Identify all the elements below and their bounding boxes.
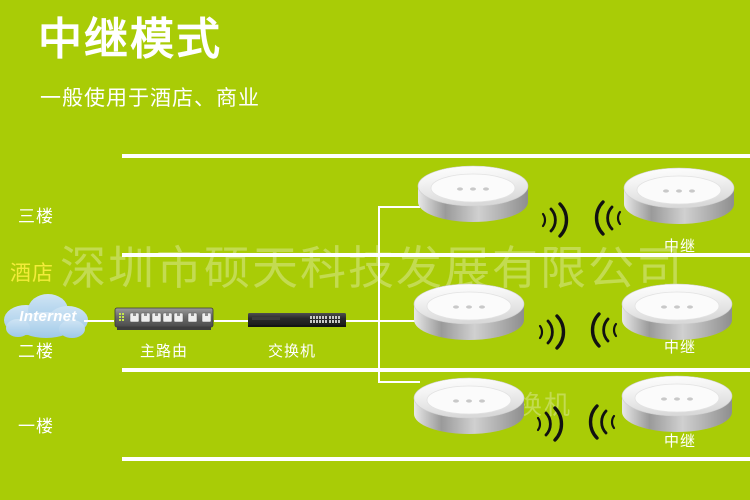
floor-label-first: 一楼 [18, 412, 54, 437]
access-point-relay-first-floor [618, 368, 736, 438]
internet-cloud: Internet [2, 292, 94, 340]
access-point-relay-third-floor [620, 160, 738, 230]
switch-icon [248, 312, 346, 329]
access-point-source-second-floor [410, 276, 528, 346]
floor-line-third [122, 253, 750, 257]
floor-line-first [122, 457, 750, 461]
link-router-switch [214, 320, 250, 322]
relay-label-third-floor: 中继 [664, 235, 696, 256]
access-point-source-first-floor [410, 370, 528, 440]
wifi-signal-icon-third-floor-left [537, 198, 571, 242]
access-point-source-third-floor [414, 158, 532, 228]
internet-label: Internet [2, 292, 94, 340]
page-subtitle: 一般使用于酒店、商业 [40, 82, 260, 112]
floor-label-third: 三楼 [18, 202, 54, 227]
relay-label-first-floor: 中继 [664, 430, 696, 451]
link-internet-router [84, 320, 114, 322]
page-title: 中继模式 [38, 18, 222, 62]
access-point-icon [618, 368, 736, 438]
main-router [114, 306, 214, 332]
network-switch [248, 312, 346, 329]
trunk-line [378, 206, 380, 382]
access-point-icon [620, 160, 738, 230]
floor-label-second: 二楼 [18, 337, 54, 362]
diagram-canvas: 中继模式 一般使用于酒店、商业 深圳市硕天科技发展有限公司 交换机 三楼 酒店 … [0, 0, 750, 500]
router-label: 主路由 [140, 340, 188, 361]
access-point-icon [410, 276, 528, 346]
wifi-signal-icon-second-floor-left [534, 310, 568, 354]
wifi-signal-icon-first-floor-left [532, 402, 566, 446]
company-watermark: 深圳市硕天科技发展有限公司 [60, 232, 684, 298]
access-point-icon [414, 158, 532, 228]
wifi-signal-icon-first-floor-right [586, 400, 620, 444]
router-icon [114, 306, 214, 332]
switch-label: 交换机 [268, 340, 316, 361]
access-point-icon [410, 370, 528, 440]
relay-label-second-floor: 中继 [664, 336, 696, 357]
hotel-label: 酒店 [10, 257, 54, 287]
wifi-signal-icon-second-floor-right [588, 308, 622, 352]
wifi-signal-icon-third-floor-right [592, 196, 626, 240]
link-switch-trunk [344, 320, 380, 322]
